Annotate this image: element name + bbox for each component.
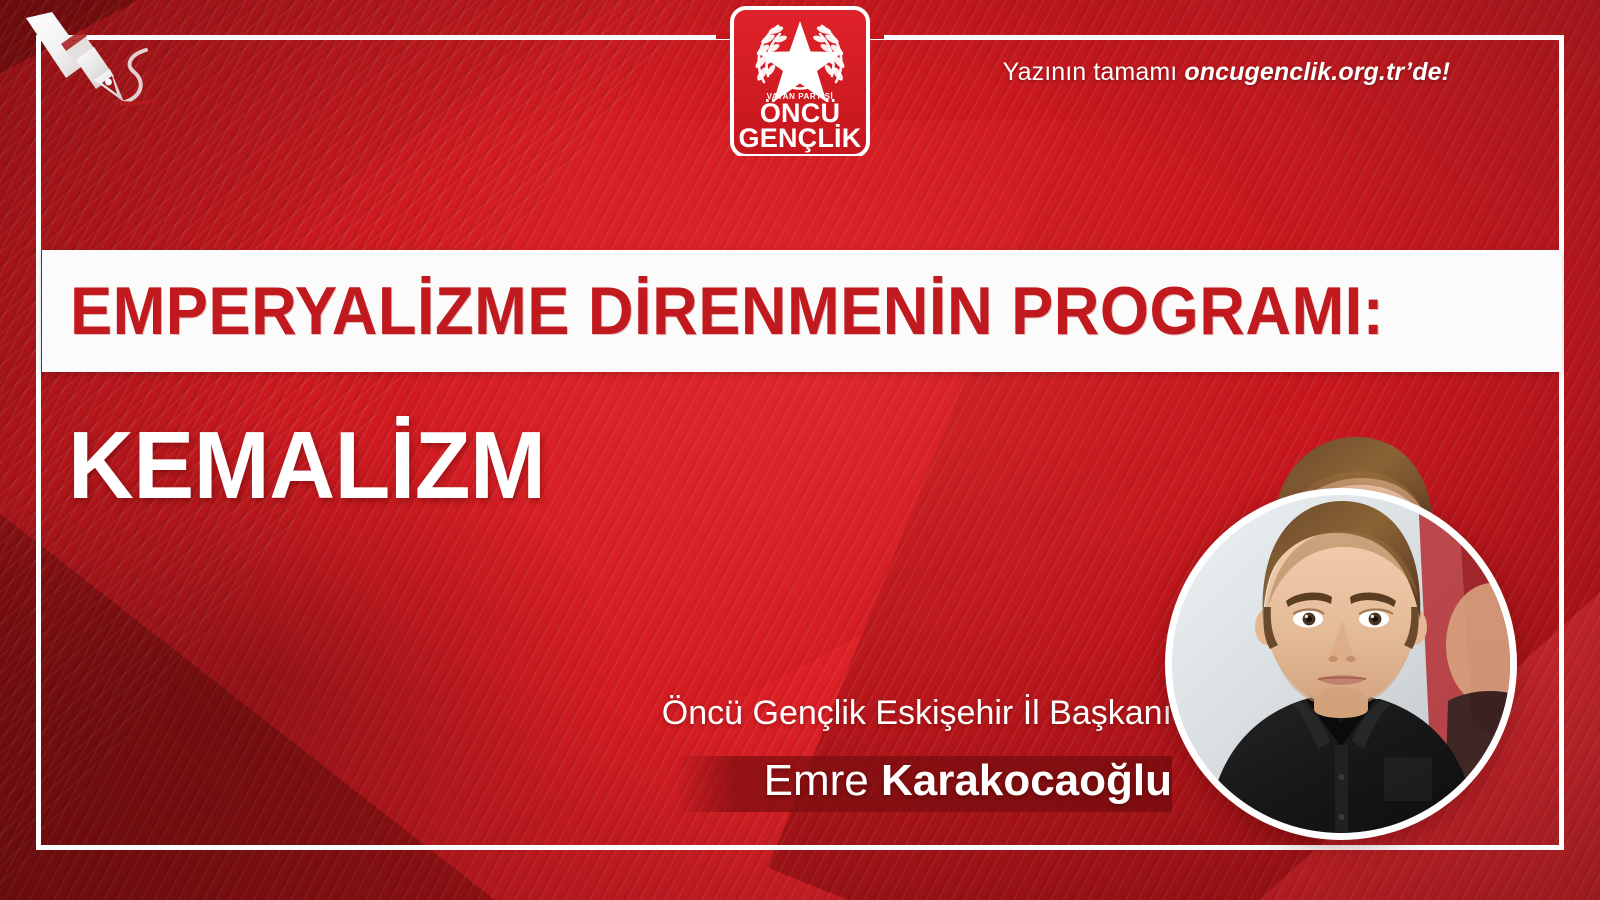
author-name: Emre Karakocaoğlu (764, 752, 1172, 809)
headline-band: EMPERYALİZME DİRENMENİN PROGRAMI: (42, 250, 1562, 372)
website-note-prefix: Yazının tamamı (1003, 58, 1185, 86)
poster-canvas: VATAN PARTİSİ ÖNCÜ GENÇLİK Yazının tamam… (0, 0, 1600, 900)
author-role: Öncü Gençlik Eskişehir İl Başkanı (0, 694, 1172, 732)
page-title: EMPERYALİZME DİRENMENİN PROGRAMI: (70, 277, 1384, 345)
author-first-name: Emre (764, 756, 881, 805)
author-portrait (1165, 488, 1517, 840)
fountain-pen-icon (14, 10, 154, 125)
author-block: Öncü Gençlik Eskişehir İl Başkanı (0, 694, 1172, 732)
portrait-image (1172, 495, 1510, 833)
author-name-band: Emre Karakocaoğlu (675, 756, 1172, 812)
subject-title: KEMALİZM (68, 418, 545, 514)
author-last-name: Karakocaoğlu (881, 756, 1172, 805)
website-note[interactable]: Yazının tamamı oncugenclik.org.tr’de! (1003, 58, 1450, 87)
organization-logo[interactable]: VATAN PARTİSİ ÖNCÜ GENÇLİK (724, 4, 876, 156)
website-url[interactable]: oncugenclik.org.tr’de! (1184, 58, 1450, 86)
